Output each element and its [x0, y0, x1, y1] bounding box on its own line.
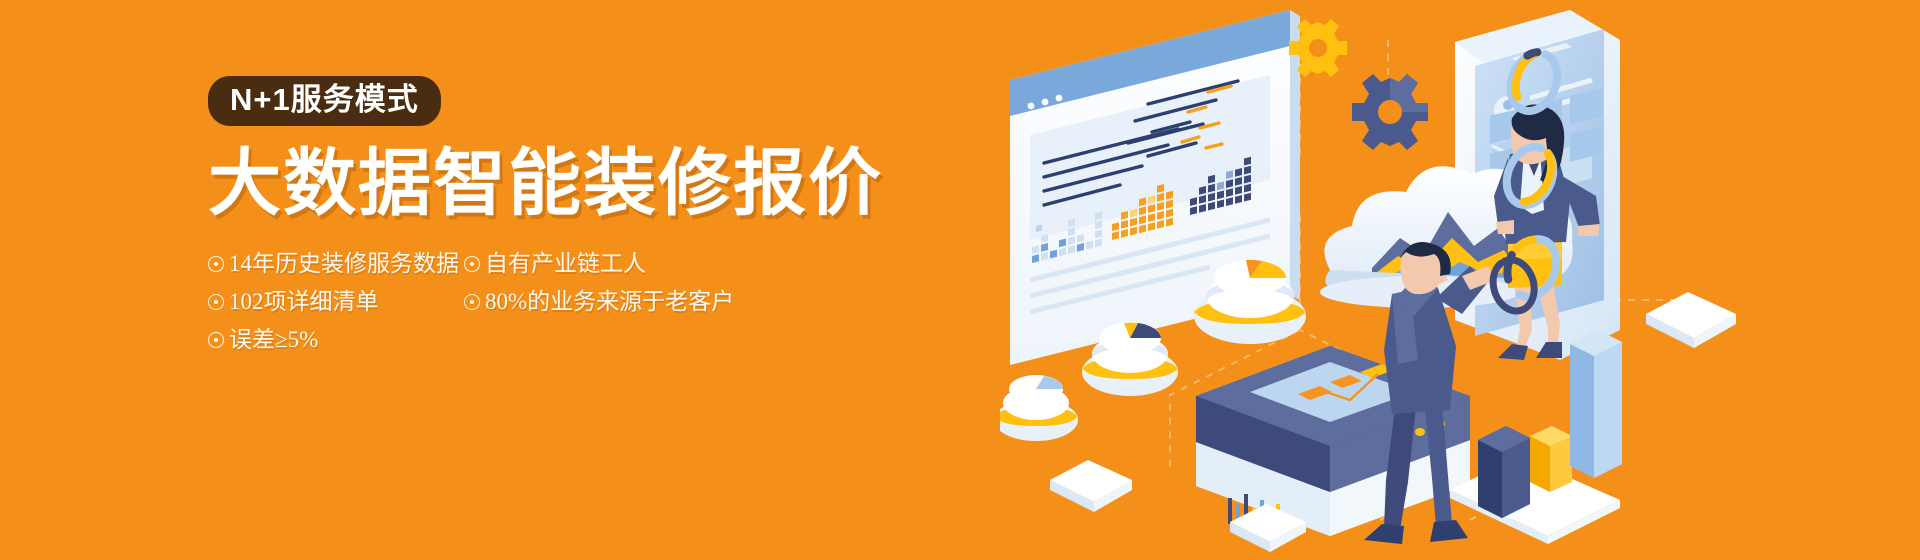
- bullet-dot-icon: [208, 256, 224, 272]
- list-item: 80%的业务来源于老客户: [464, 290, 968, 313]
- page-title: 大数据智能装修报价: [208, 146, 968, 223]
- list-item: 14年历史装修服务数据: [208, 252, 464, 275]
- bullet-dot-icon: [208, 332, 224, 348]
- hero-illustration: [1000, 0, 1920, 560]
- list-item-label: 误差≥5%: [229, 327, 318, 352]
- list-item: 自有产业链工人: [464, 252, 968, 275]
- bullet-dot-icon: [464, 294, 480, 310]
- promo-banner: N+1服务模式 大数据智能装修报价 14年历史装修服务数据 自有产业链工人 10…: [0, 0, 1920, 560]
- list-item-label: 80%的业务来源于老客户: [485, 289, 734, 314]
- list-item-label: 102项详细清单: [229, 289, 379, 314]
- list-item-label: 14年历史装修服务数据: [229, 251, 459, 276]
- list-item: 102项详细清单: [208, 290, 464, 313]
- service-model-badge: N+1服务模式: [208, 76, 441, 126]
- bullet-dot-icon: [208, 294, 224, 310]
- bar-chart-columns: [1450, 330, 1622, 544]
- gear-navy: [1352, 74, 1428, 150]
- hero-text-block: N+1服务模式 大数据智能装修报价 14年历史装修服务数据 自有产业链工人 10…: [208, 76, 968, 359]
- list-item: 误差≥5%: [208, 328, 464, 351]
- feature-list: 14年历史装修服务数据 自有产业链工人 102项详细清单 80%的业务来源于老客…: [208, 245, 968, 359]
- list-item-label: 自有产业链工人: [485, 251, 646, 276]
- bullet-dot-icon: [464, 256, 480, 272]
